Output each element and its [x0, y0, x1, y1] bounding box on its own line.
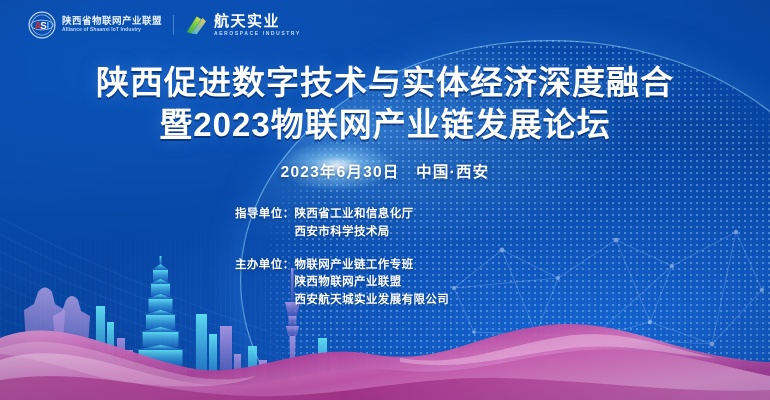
event-poster: A S I ASI 陕西省物联网产业联盟 Alliance of Shaanxi… — [0, 0, 770, 400]
organizer-block-host: 主办单位： 物联网产业链工作专班 陕西物联网产业联盟 西安航天城实业发展有限公司 — [235, 257, 535, 310]
alliance-name-cn: 陕西省物联网产业联盟 — [62, 17, 162, 27]
alliance-logo[interactable]: A S I ASI 陕西省物联网产业联盟 Alliance of Shaanxi… — [28, 11, 162, 39]
headline-line-1: 陕西促进数字技术与实体经济深度融合 — [0, 62, 770, 104]
organizer-name: 陕西省工业和信息化厅 — [295, 206, 414, 224]
organizer-name: 西安市科学技术局 — [295, 224, 414, 242]
headline-line-2: 暨2023物联网产业链发展论坛 — [0, 104, 770, 146]
logo-divider — [173, 15, 174, 35]
magenta-ribbon-waves — [0, 324, 770, 400]
alliance-name-en: Alliance of Shaanxi IoT Industry — [62, 28, 162, 33]
organizer-name: 陕西物联网产业联盟 — [295, 274, 450, 292]
organizer-block-guidance: 指导单位： 陕西省工业和信息化厅 西安市科学技术局 — [235, 206, 535, 242]
date-location-bar: 2023年6月30日 中国·西安 — [0, 160, 770, 182]
event-datebar: 2023年6月30日 中国·西安 — [281, 164, 490, 181]
organizer-label: 指导单位： — [235, 206, 295, 224]
svg-text:I: I — [47, 21, 50, 32]
asi-circular-emblem-icon: A S I — [28, 11, 56, 39]
organizer-label: 主办单位： — [235, 257, 295, 275]
organizer-list: 指导单位： 陕西省工业和信息化厅 西安市科学技术局 主办单位： 物联网产业链工作… — [0, 206, 770, 310]
logo-bar: A S I ASI 陕西省物联网产业联盟 Alliance of Shaanxi… — [28, 11, 301, 39]
headline: 陕西促进数字技术与实体经济深度融合 暨2023物联网产业链发展论坛 — [0, 62, 770, 146]
aerospace-swoosh-icon — [185, 15, 207, 35]
aerospace-name-en: AEROSPACE INDUSTRY — [214, 32, 301, 37]
aerospace-logo[interactable]: 航天实业 AEROSPACE INDUSTRY — [185, 14, 301, 37]
organizer-name: 物联网产业链工作专班 — [295, 257, 450, 275]
aerospace-name-cn: 航天实业 — [214, 14, 301, 29]
organizer-name: 西安航天城实业发展有限公司 — [295, 292, 450, 310]
